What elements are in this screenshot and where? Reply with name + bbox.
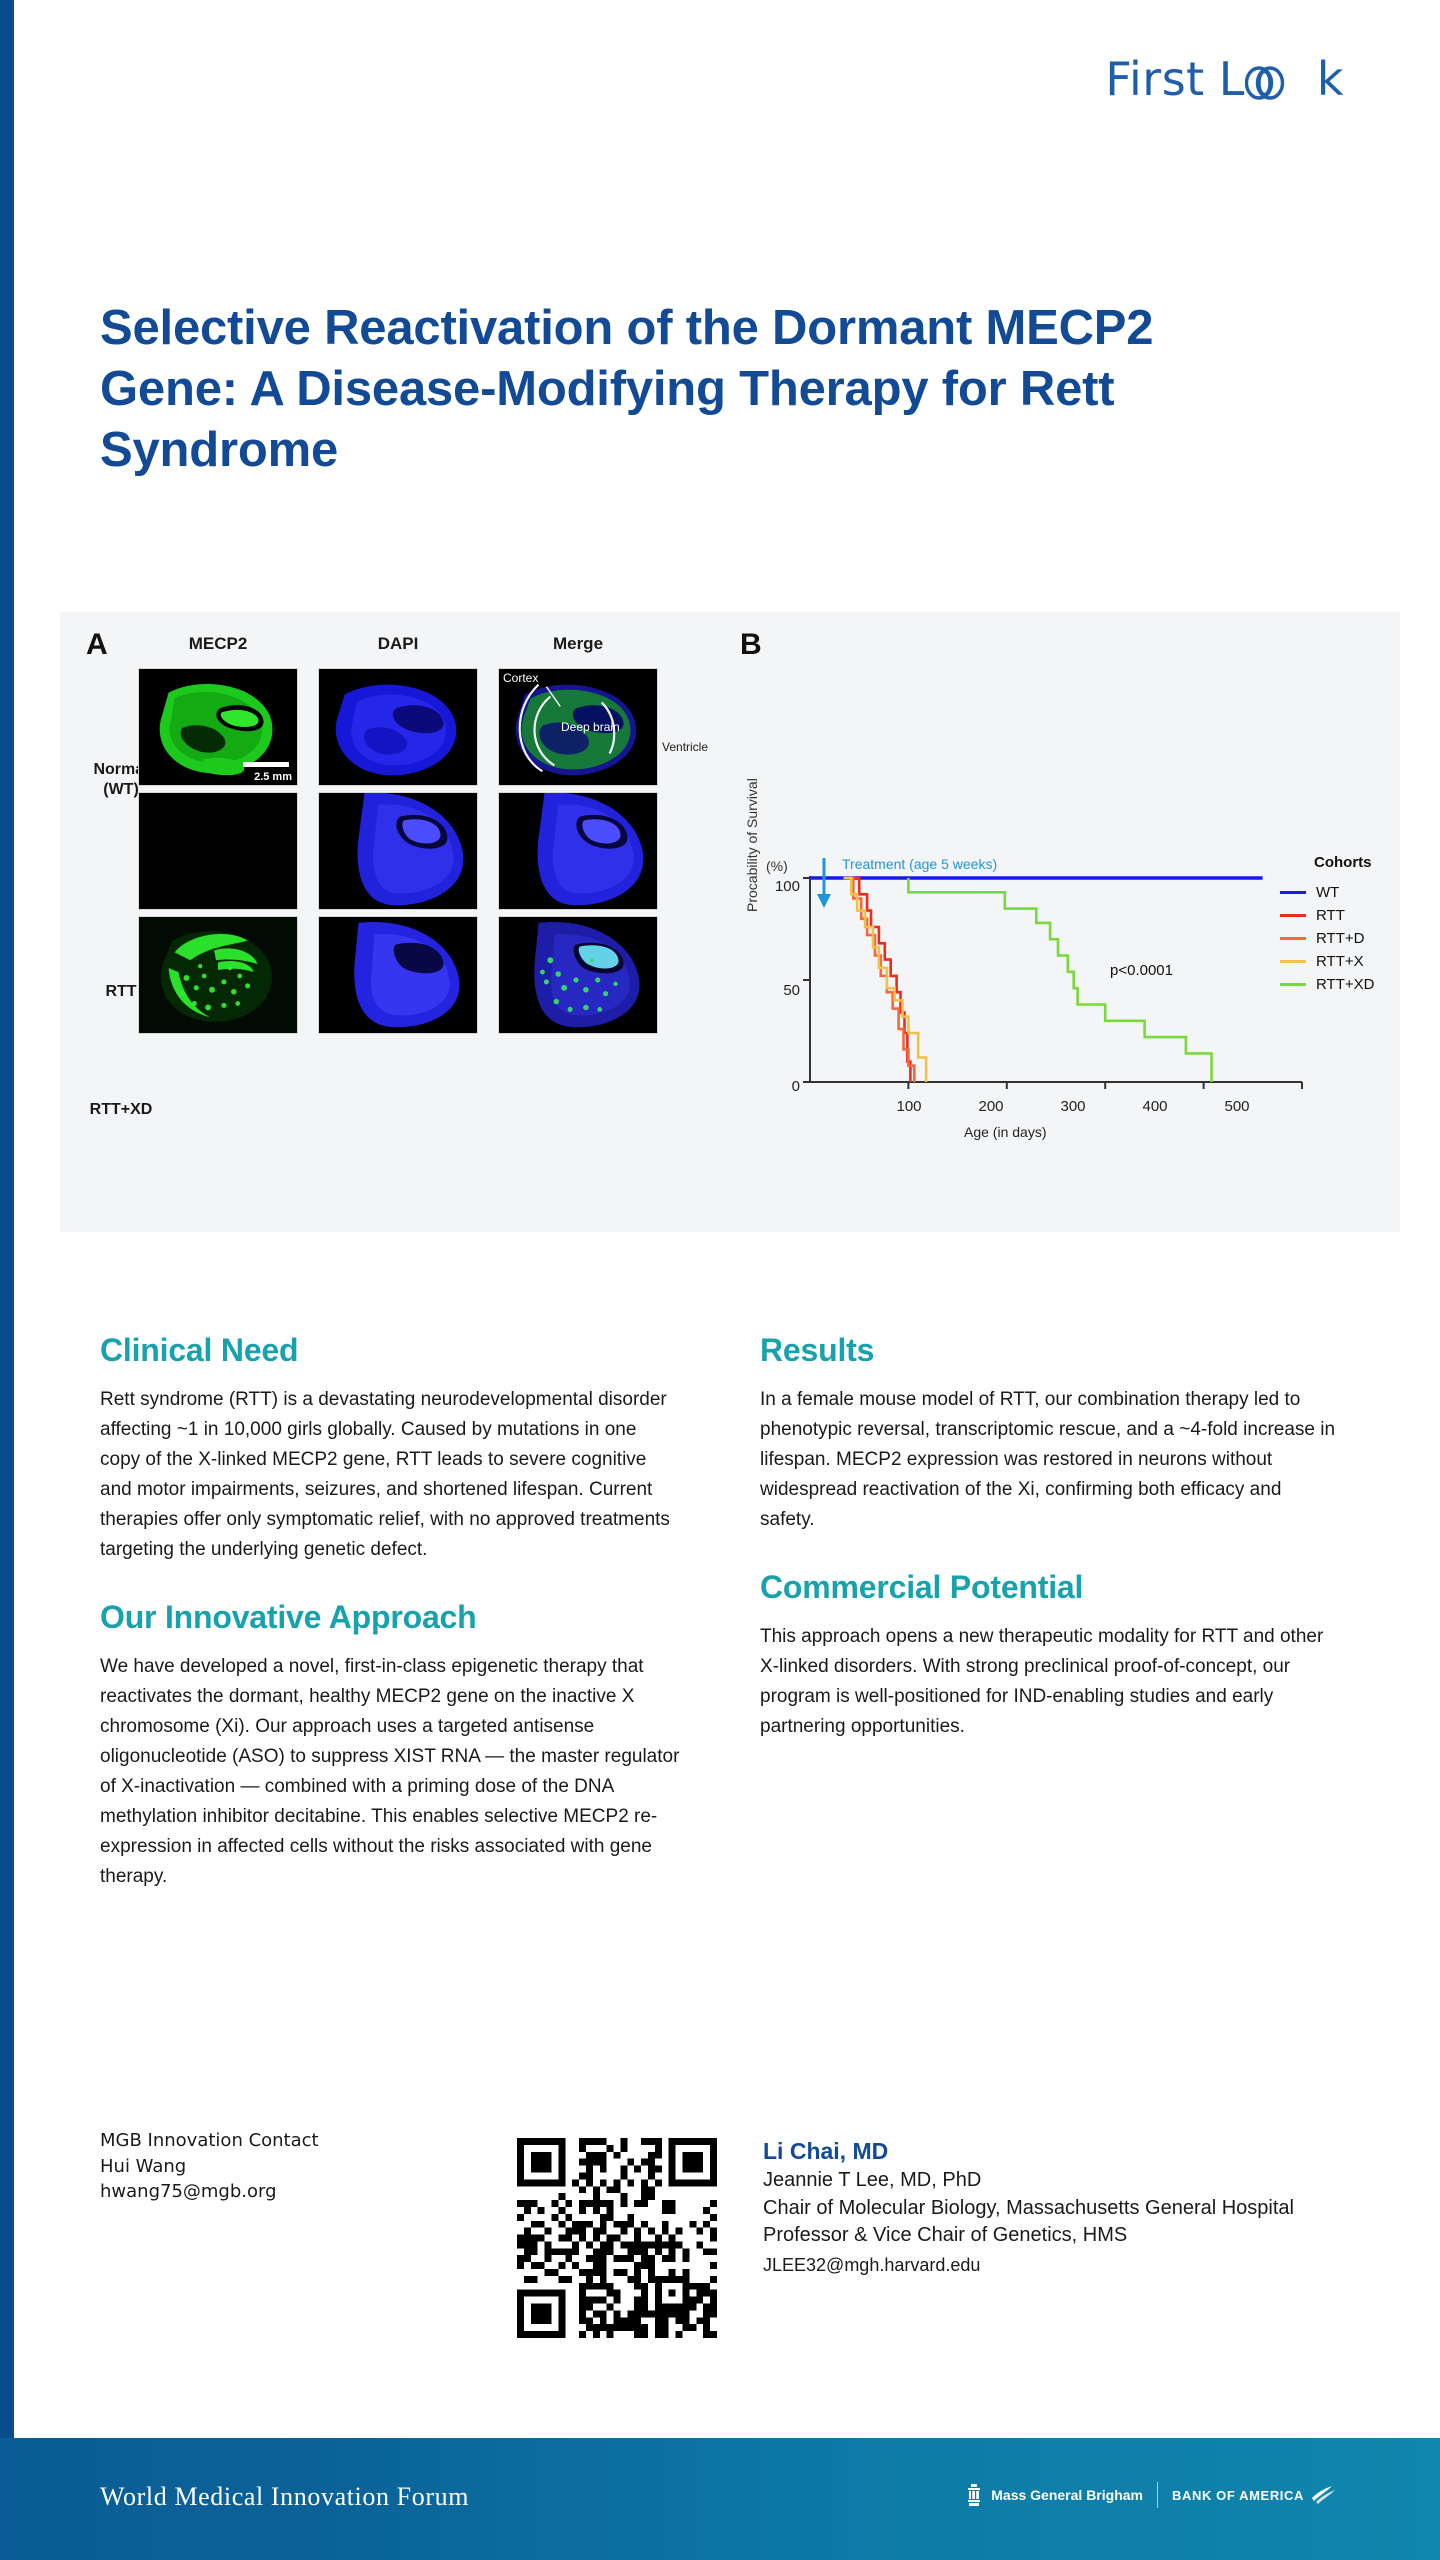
footer-bar: World Medical Innovation Forum Mass Gene…: [0, 2438, 1440, 2560]
left-text-column: Clinical Need Rett syndrome (RTT) is a d…: [100, 1332, 680, 1892]
chart-legend: Cohorts WTRTTRTT+DRTT+XRTT+XD: [1280, 854, 1374, 996]
pi-name: Li Chai, MD: [763, 2138, 1363, 2165]
panel-a-letter: A: [86, 628, 108, 662]
survival-chart: Procability of Survival (%) Treatment (a…: [750, 612, 1400, 1232]
treatment-arrow-icon: [812, 856, 842, 912]
legend-label: WT: [1316, 884, 1339, 901]
panel-a-col-mecp2: MECP2: [138, 634, 298, 654]
micrograph-rttxd-dapi: [318, 916, 478, 1034]
logo-word-first: First: [1105, 52, 1204, 106]
section-body-approach: We have developed a novel, first-in-clas…: [100, 1652, 680, 1892]
y-tick-50: 50: [766, 982, 800, 999]
legend-swatch: [1280, 960, 1306, 963]
micrograph-rtt-mecp2: [138, 792, 298, 910]
legend-label: RTT: [1316, 907, 1345, 924]
annotation-cortex: Cortex: [503, 671, 538, 685]
logo-word-look-tail: k: [1317, 52, 1344, 106]
pi-affiliation: Chair of Molecular Biology, Massachusett…: [763, 2195, 1363, 2223]
mass-general-brigham-logo: Mass General Brigham: [964, 2483, 1143, 2507]
legend-swatch: [1280, 914, 1306, 917]
section-body-commercial: This approach opens a new therapeutic mo…: [760, 1622, 1340, 1742]
mgb-contact-email[interactable]: hwang75@mgb.org: [100, 2179, 319, 2205]
annotation-deep-brain: Deep brain: [561, 721, 620, 734]
micrograph-rtt-merge: [498, 792, 658, 910]
legend-item-rtt-xd: RTT+XD: [1280, 973, 1374, 996]
chart-y-unit: (%): [766, 858, 788, 874]
micrograph-rtt-dapi: [318, 792, 478, 910]
chart-x-axis-label: Age (in days): [964, 1124, 1046, 1140]
pi-title: Professor & Vice Chair of Genetics, HMS: [763, 2222, 1363, 2250]
pi-email[interactable]: JLEE32@mgh.harvard.edu: [763, 2252, 1363, 2279]
legend-swatch: [1280, 937, 1306, 940]
chart-y-axis-label: Procability of Survival: [744, 778, 760, 912]
panel-a-col-dapi: DAPI: [318, 634, 478, 654]
mgb-contact-label: MGB Innovation Contact: [100, 2128, 319, 2154]
logo-word-look-lead: L: [1219, 52, 1245, 106]
legend-swatch: [1280, 891, 1306, 894]
principal-investigator-block: Li Chai, MD Jeannie T Lee, MD, PhD Chair…: [763, 2138, 1363, 2279]
scale-bar: [243, 762, 289, 767]
legend-label: RTT+X: [1316, 953, 1364, 970]
section-heading-results: Results: [760, 1332, 1340, 1369]
eye-icon: [1245, 65, 1291, 95]
mgb-contact-name: Hui Wang: [100, 2154, 319, 2180]
y-tick-0: 0: [766, 1078, 800, 1095]
legend-swatch: [1280, 983, 1306, 986]
lighthouse-icon: [964, 2483, 984, 2507]
section-body-results: In a female mouse model of RTT, our comb…: [760, 1385, 1340, 1535]
section-heading-approach: Our Innovative Approach: [100, 1599, 680, 1636]
legend-item-rtt-d: RTT+D: [1280, 927, 1374, 950]
mgb-innovation-contact: MGB Innovation Contact Hui Wang hwang75@…: [100, 2128, 319, 2205]
footer-event-name: World Medical Innovation Forum: [100, 2482, 469, 2512]
section-body-clinical-need: Rett syndrome (RTT) is a devastating neu…: [100, 1385, 680, 1565]
scale-bar-label: 2.5 mm: [254, 771, 292, 783]
micrograph-wt-merge: Cortex Deep brain: [498, 668, 658, 786]
boa-logo-text: BANK OF AMERICA: [1172, 2488, 1304, 2503]
legend-item-wt: WT: [1280, 881, 1374, 904]
left-accent-bar: [0, 0, 14, 2560]
sponsor-divider: [1157, 2482, 1158, 2508]
first-look-logo: First L k: [1105, 52, 1344, 106]
page-title: Selective Reactivation of the Dormant ME…: [100, 298, 1280, 480]
section-heading-commercial: Commercial Potential: [760, 1569, 1340, 1606]
qr-code[interactable]: [517, 2138, 717, 2338]
legend-item-rtt: RTT: [1280, 904, 1374, 927]
figure-band: A MECP2 DAPI Merge Normal (WT) RTT RTT+X…: [60, 612, 1400, 1232]
legend-label: RTT+XD: [1316, 976, 1374, 993]
legend-label: RTT+D: [1316, 930, 1364, 947]
y-tick-100: 100: [766, 878, 800, 895]
pi-credentials: Jeannie T Lee, MD, PhD: [763, 2167, 1363, 2195]
section-heading-clinical-need: Clinical Need: [100, 1332, 680, 1369]
mgb-logo-text: Mass General Brigham: [991, 2487, 1143, 2503]
panel-a-row-rtt-xd: RTT+XD: [62, 1100, 180, 1120]
footer-sponsors: Mass General Brigham BANK OF AMERICA: [964, 2482, 1336, 2508]
bank-of-america-logo: BANK OF AMERICA: [1172, 2484, 1336, 2506]
km-curves: [802, 870, 1322, 1120]
micrograph-wt-dapi: [318, 668, 478, 786]
micrograph-rttxd-mecp2: [138, 916, 298, 1034]
panel-a-col-merge: Merge: [498, 634, 658, 654]
legend-title: Cohorts: [1314, 854, 1374, 871]
micrograph-rttxd-merge: [498, 916, 658, 1034]
annotation-ventricle: Ventricle: [662, 740, 708, 754]
boa-flag-icon: [1310, 2484, 1336, 2506]
micrograph-wt-mecp2: 2.5 mm: [138, 668, 298, 786]
legend-item-rtt-x: RTT+X: [1280, 950, 1374, 973]
right-text-column: Results In a female mouse model of RTT, …: [760, 1332, 1340, 1742]
